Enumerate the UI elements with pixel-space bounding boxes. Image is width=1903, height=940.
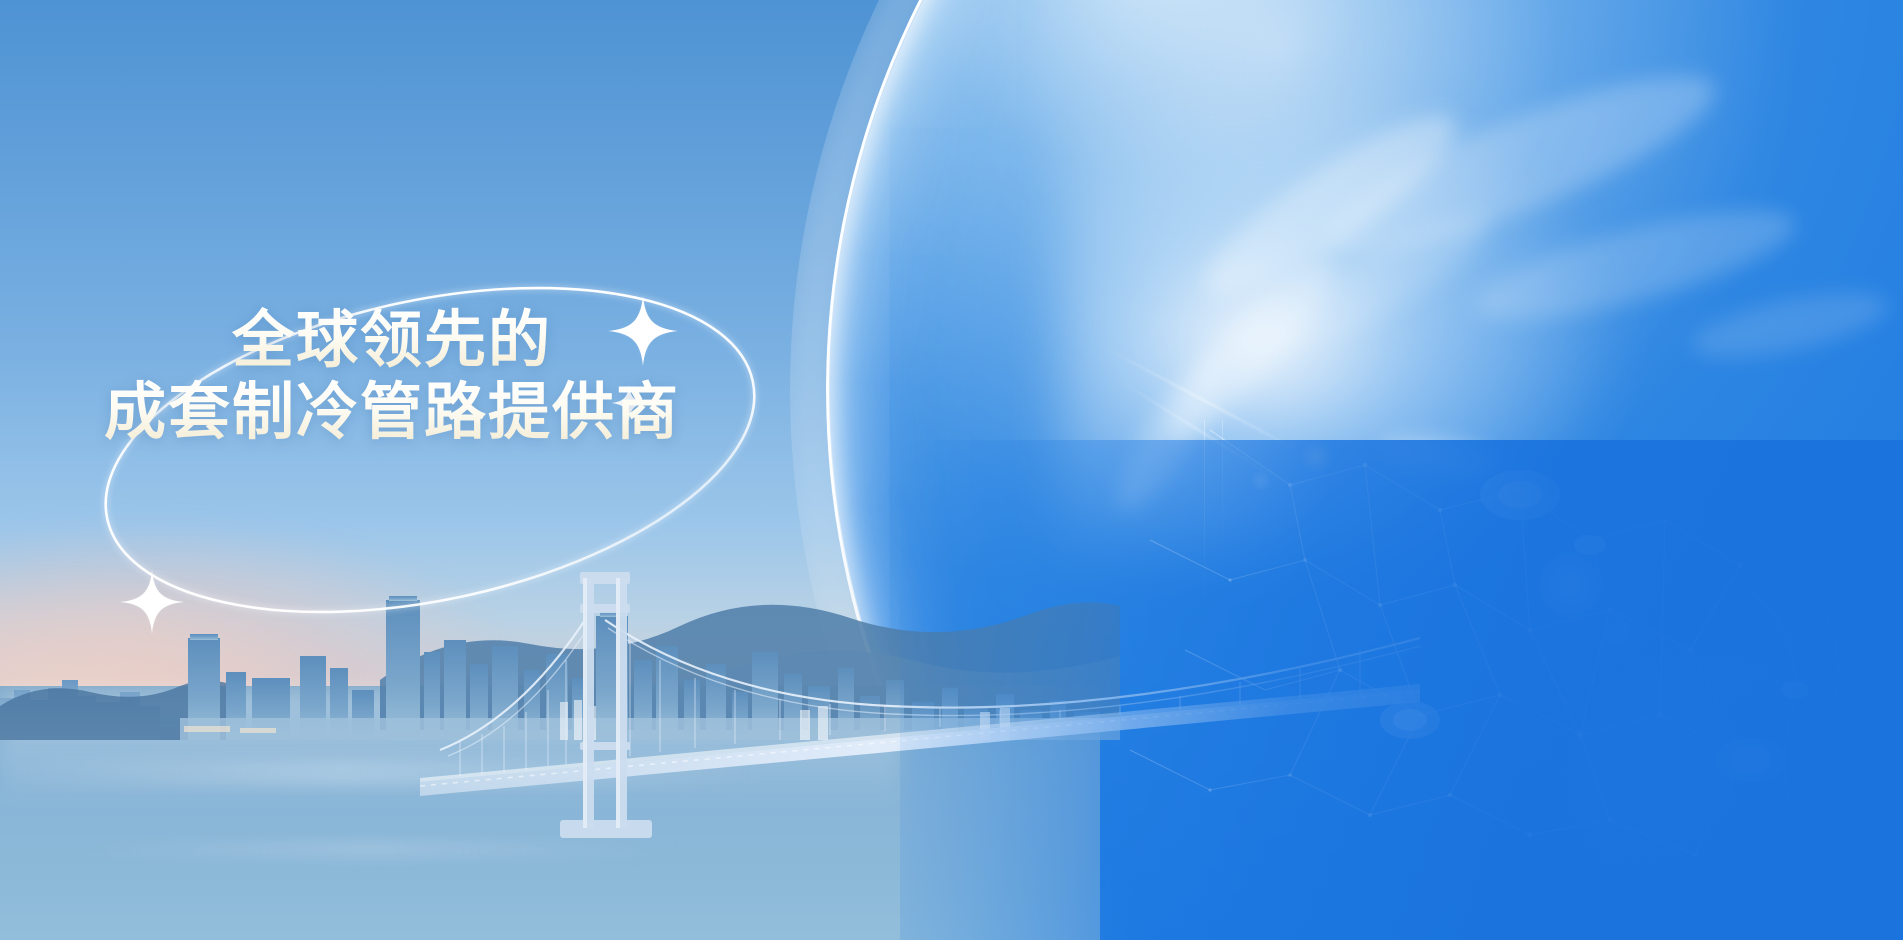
page-title: 全球领先的 成套制冷管路提供商	[104, 305, 680, 449]
globe-foreground-veil	[900, 440, 1903, 940]
hero-banner: 全球领先的 成套制冷管路提供商	[0, 0, 1903, 940]
headline-line-1: 全球领先的	[232, 305, 680, 377]
headline-line-2: 成套制冷管路提供商	[104, 377, 680, 449]
